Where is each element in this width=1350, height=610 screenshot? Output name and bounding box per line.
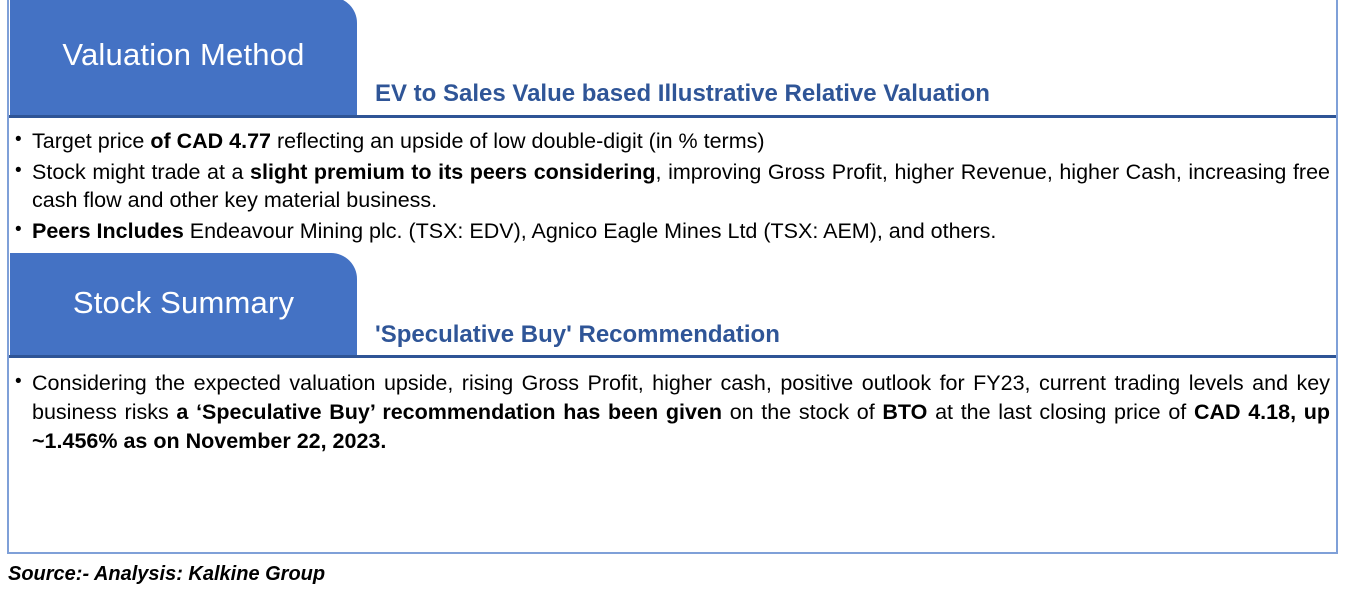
list-item: • Stock might trade at a slight premium …: [15, 158, 1330, 215]
section-body-stock-summary: • Considering the expected valuation ups…: [9, 358, 1336, 463]
tab-valuation-method[interactable]: Valuation Method: [10, 0, 357, 115]
list-item: • Considering the expected valuation ups…: [15, 369, 1330, 455]
bullet-dot-icon: •: [15, 158, 32, 185]
list-item-text: Target price of CAD 4.77 reflecting an u…: [32, 127, 1330, 156]
list-item: • Peers Includes Endeavour Mining plc. (…: [15, 217, 1330, 246]
bullet-dot-icon: •: [15, 369, 32, 396]
section-header-stock-summary: Stock Summary 'Speculative Buy' Recommen…: [9, 253, 1336, 358]
tab-label-stock-summary: Stock Summary: [73, 287, 294, 318]
bullet-dot-icon: •: [15, 217, 32, 244]
section-body-valuation-method: • Target price of CAD 4.77 reflecting an…: [9, 118, 1336, 253]
section-title-valuation-method: EV to Sales Value based Illustrative Rel…: [375, 81, 990, 107]
list-item: • Target price of CAD 4.77 reflecting an…: [15, 127, 1330, 156]
list-item-text: Stock might trade at a slight premium to…: [32, 158, 1330, 215]
source-caption: Source:- Analysis: Kalkine Group: [8, 563, 325, 586]
section-header-valuation-method: Valuation Method EV to Sales Value based…: [9, 0, 1336, 118]
list-item-text: Peers Includes Endeavour Mining plc. (TS…: [32, 217, 1330, 246]
tab-label-valuation-method: Valuation Method: [62, 39, 304, 70]
section-title-stock-summary: 'Speculative Buy' Recommendation: [375, 322, 780, 348]
list-item-text: Considering the expected valuation upsid…: [32, 369, 1330, 455]
tab-stock-summary[interactable]: Stock Summary: [10, 253, 357, 355]
content-table: Valuation Method EV to Sales Value based…: [7, 0, 1338, 554]
bullet-dot-icon: •: [15, 127, 32, 154]
slide-canvas: Valuation Method EV to Sales Value based…: [0, 0, 1350, 610]
